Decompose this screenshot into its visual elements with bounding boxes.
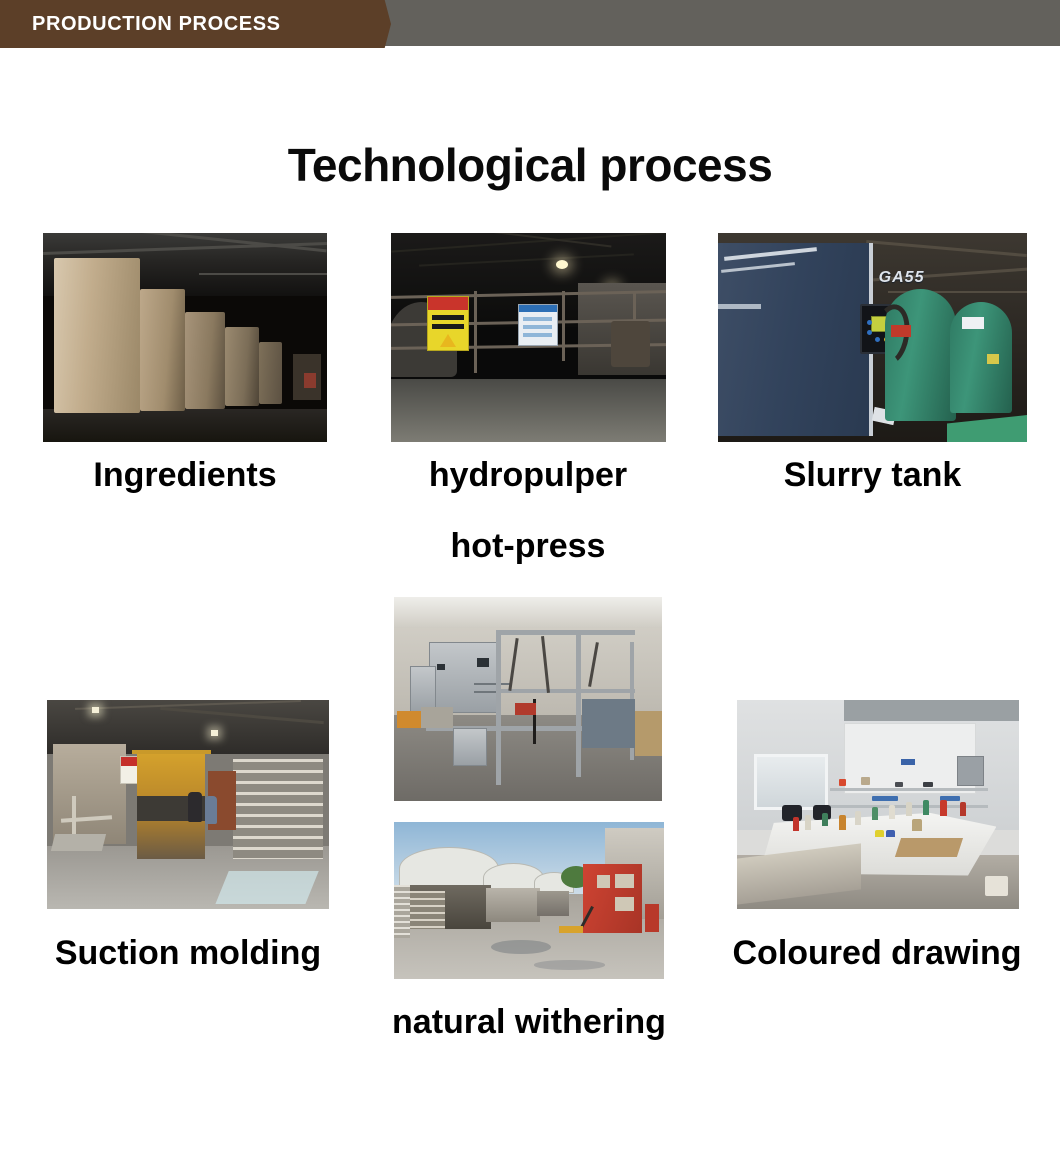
- shelf: [830, 788, 988, 791]
- paper-bale: [225, 327, 259, 406]
- warning-sign: [427, 296, 469, 351]
- concrete-pad: [51, 834, 106, 851]
- painted-item: [940, 800, 947, 816]
- drying-shed: [537, 891, 569, 916]
- board-row: [523, 317, 552, 321]
- board-row: [523, 333, 552, 337]
- machine-frame: [496, 689, 635, 693]
- ceiling-lamp: [556, 260, 568, 269]
- painted-item: [923, 800, 929, 815]
- painted-item: [839, 815, 846, 830]
- caption-suction-molding: Suction molding: [20, 932, 356, 974]
- caption-natural-withering: natural withering: [369, 1001, 689, 1043]
- machine-frame: [496, 630, 635, 635]
- drying-shed: [486, 888, 540, 923]
- tank-label: [962, 317, 984, 329]
- pallet-jack: [559, 926, 583, 934]
- painted-item: [855, 811, 861, 825]
- control-strip: [474, 683, 512, 685]
- worker: [205, 796, 217, 824]
- warehouse-floor: [43, 409, 327, 442]
- warning-sign-text-line: [432, 324, 464, 329]
- pallet-load: [597, 875, 611, 888]
- painted-item: [889, 805, 895, 819]
- caption-ingredients: Ingredients: [43, 454, 327, 496]
- tank-label: [891, 325, 911, 337]
- warning-sign-header: [428, 297, 468, 311]
- wall-structure: [53, 744, 126, 844]
- interior-window: [754, 754, 828, 810]
- drying-rack: [233, 759, 323, 859]
- stacked-goods: [394, 885, 410, 938]
- shelf-item: [872, 796, 898, 801]
- shelf-item: [895, 782, 903, 787]
- machine-frame: [496, 630, 501, 785]
- press-top-beam: [132, 750, 211, 754]
- workshop-ceiling: [394, 597, 662, 628]
- machine-display: [437, 664, 445, 670]
- painted-item: [886, 830, 895, 837]
- press-tank: [582, 699, 636, 748]
- panel-button: [867, 320, 872, 325]
- photo-natural-withering: [394, 822, 664, 979]
- stacked-pallets: [635, 711, 662, 756]
- paper-bale: [185, 312, 225, 408]
- painted-item: [906, 802, 912, 816]
- red-pallet-stack: [645, 904, 659, 932]
- pallet-load: [615, 874, 634, 888]
- shelf-item: [839, 779, 846, 786]
- machine-display: [477, 658, 489, 667]
- red-component: [515, 703, 536, 715]
- painted-item: [875, 830, 884, 837]
- hazard-triangle-icon: [440, 334, 456, 347]
- ceiling-band: [844, 700, 1019, 721]
- chair: [782, 805, 802, 821]
- painted-item: [872, 807, 878, 820]
- photo-hydropulper: [391, 233, 666, 442]
- hopper: [611, 321, 650, 367]
- paper-bale: [140, 289, 185, 410]
- control-cabinet: [429, 642, 501, 713]
- panel-button: [867, 330, 872, 335]
- photo-hot-press: [394, 597, 662, 801]
- board-row: [523, 325, 552, 329]
- photo-coloured-drawing: [737, 700, 1019, 909]
- bucket: [985, 876, 1008, 897]
- cabinet-vent: [718, 304, 761, 309]
- painted-item: [793, 817, 799, 831]
- paper-bale: [54, 258, 139, 413]
- photo-slurry-tank: GA55: [718, 233, 1027, 442]
- wall-cabinet: [957, 756, 984, 785]
- cardboard-sheet: [895, 838, 963, 857]
- compressor-model-label: GA55: [879, 269, 925, 287]
- wet-floor-patch: [215, 871, 319, 904]
- railing-post: [474, 291, 477, 373]
- ceiling-beam: [199, 273, 327, 275]
- figure-coloured-drawing: Coloured drawing: [0, 0, 282, 209]
- warning-sign-text-line: [432, 315, 464, 320]
- painted-item: [912, 819, 922, 831]
- worker: [188, 792, 202, 822]
- base-cabinet: [453, 728, 487, 767]
- wet-patch: [491, 940, 550, 954]
- tank-sticker: [987, 354, 999, 364]
- painted-item: [822, 813, 828, 826]
- paper-bale: [259, 342, 282, 405]
- compressor-cabinet: [718, 243, 873, 435]
- floor-crate: [421, 707, 453, 727]
- factory-floor: [391, 379, 666, 442]
- ceiling-lamp: [92, 707, 99, 713]
- caption-hydropulper: hydropulper: [380, 454, 676, 496]
- shelf-item: [923, 782, 933, 787]
- painted-item: [960, 802, 966, 816]
- whiteboard-text: [901, 759, 915, 765]
- machine-frame: [576, 634, 581, 777]
- ceiling-lamp: [211, 730, 218, 736]
- caption-hot-press: hot-press: [380, 525, 676, 567]
- board-header: [519, 305, 557, 312]
- floor-crate: [397, 711, 421, 727]
- railing-post: [562, 291, 565, 361]
- information-board: [518, 304, 558, 346]
- caption-coloured-drawing: Coloured drawing: [704, 932, 1050, 974]
- pallet-load: [615, 897, 634, 911]
- shelf-item: [861, 777, 870, 785]
- painted-item: [805, 815, 811, 830]
- photo-ingredients: [43, 233, 327, 442]
- photo-suction-molding: [47, 700, 329, 909]
- caption-slurry-tank: Slurry tank: [718, 454, 1027, 496]
- wet-patch: [534, 960, 604, 969]
- red-equipment: [304, 373, 315, 388]
